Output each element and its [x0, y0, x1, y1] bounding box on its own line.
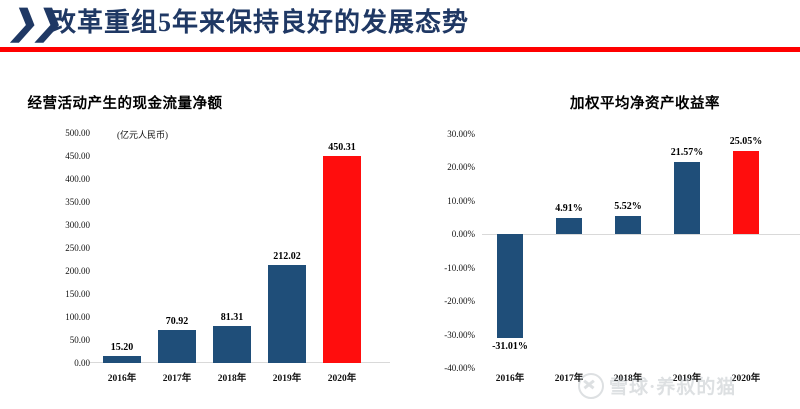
bar-2016年[interactable] — [497, 234, 523, 338]
y-tick-label: 20.00% — [415, 162, 475, 172]
y-tick-label: -10.00% — [415, 263, 475, 273]
y-tick-label: 350.00 — [30, 197, 90, 207]
bar-2016年[interactable] — [103, 356, 141, 363]
y-tick-label: 150.00 — [30, 289, 90, 299]
x-tick-label: 2016年 — [482, 370, 538, 384]
bar-2019年[interactable] — [268, 265, 306, 363]
y-tick-label: 300.00 — [30, 220, 90, 230]
plot-area-roe: -31.01%4.91%5.52%21.57%25.05% — [485, 134, 785, 368]
bar-value-label: 450.31 — [312, 142, 372, 153]
y-tick-label: -30.00% — [415, 330, 475, 340]
x-tick-label: 2018年 — [202, 370, 262, 384]
chart-panel-cashflow: 经营活动产生的现金流量净额 (亿元人民币) 500.00450.00400.00… — [0, 54, 410, 409]
y-tick-label: 200.00 — [30, 266, 90, 276]
x-tick-label: 2019年 — [659, 370, 715, 384]
y-tick-label: 500.00 — [30, 128, 90, 138]
y-tick-label: 50.00 — [30, 335, 90, 345]
y-tick-label: 400.00 — [30, 174, 90, 184]
slide-header: ❯❯ 改革重组5年来保持良好的发展态势 — [0, 0, 800, 54]
bar-value-label: -31.01% — [482, 341, 538, 352]
header-divider-red — [0, 47, 800, 52]
y-tick-label: -40.00% — [415, 363, 475, 373]
bar-value-label: 81.31 — [202, 312, 262, 323]
plot-area-cashflow: 15.2070.9281.31212.02450.31 — [95, 133, 387, 363]
bar-2018年[interactable] — [213, 326, 251, 363]
page-title: 改革重组5年来保持良好的发展态势 — [50, 6, 469, 40]
bar-value-label: 70.92 — [147, 316, 207, 327]
chart-panel-roe: 加权平均净资产收益率 30.00%20.00%10.00%0.00%-10.00… — [410, 54, 800, 409]
chart-title-cashflow: 经营活动产生的现金流量净额 — [0, 92, 330, 113]
x-tick-label: 2018年 — [600, 370, 656, 384]
bar-2020年[interactable] — [733, 151, 759, 235]
bar-value-label: 21.57% — [659, 147, 715, 158]
x-tick-label: 2020年 — [312, 370, 372, 384]
chart-title-roe: 加权平均净资产收益率 — [450, 92, 800, 113]
bar-value-label: 212.02 — [257, 251, 317, 262]
bar-value-label: 15.20 — [92, 342, 152, 353]
bar-2018年[interactable] — [615, 216, 641, 234]
bar-value-label: 25.05% — [718, 136, 774, 147]
y-tick-label: 10.00% — [415, 196, 475, 206]
y-tick-label: -20.00% — [415, 296, 475, 306]
y-tick-label: 0.00% — [415, 229, 475, 239]
y-tick-label: 250.00 — [30, 243, 90, 253]
bar-2017年[interactable] — [556, 218, 582, 234]
y-tick-label: 0.00 — [30, 358, 90, 368]
y-tick-label: 100.00 — [30, 312, 90, 322]
x-tick-label: 2017年 — [541, 370, 597, 384]
y-tick-label: 450.00 — [30, 151, 90, 161]
x-tick-label: 2020年 — [718, 370, 774, 384]
bar-2017年[interactable] — [158, 330, 196, 363]
x-tick-label: 2016年 — [92, 370, 152, 384]
y-tick-label: 30.00% — [415, 129, 475, 139]
bar-value-label: 4.91% — [541, 203, 597, 214]
x-tick-label: 2017年 — [147, 370, 207, 384]
x-tick-label: 2019年 — [257, 370, 317, 384]
bar-2020年[interactable] — [323, 156, 361, 363]
bar-2019年[interactable] — [674, 162, 700, 234]
zero-axis-line — [482, 234, 800, 235]
bar-value-label: 5.52% — [600, 201, 656, 212]
